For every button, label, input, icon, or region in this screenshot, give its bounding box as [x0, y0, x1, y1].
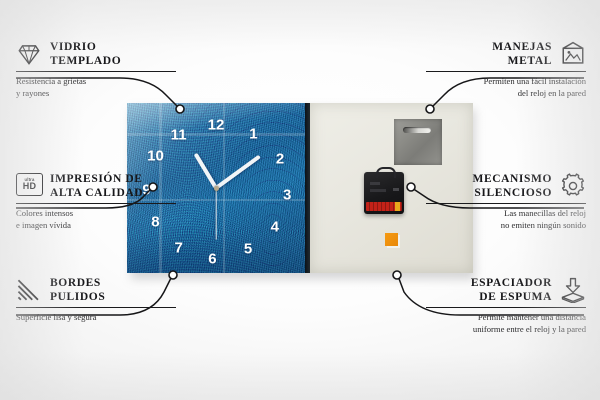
- feature-title-line1: ESPACIADOR: [471, 276, 552, 290]
- feature-title-line2: SILENCIOSO: [472, 186, 552, 200]
- feature-desc-line1: Superficie lisa y segura: [16, 312, 176, 323]
- feature-divider: [16, 307, 176, 308]
- feature-desc-line2: no emiten ningún sonido: [426, 220, 586, 231]
- diamond-icon: [16, 41, 42, 67]
- feature-desc-line1: Colores intensos: [16, 208, 176, 219]
- feature-title: IMPRESIÓN DE ALTA CALIDAD: [50, 172, 143, 200]
- feature-desc-line1: Permiten una fácil instalación: [426, 76, 586, 87]
- feature-bordes-pulidos: BORDES PULIDOS Superficie lisa y segura: [16, 276, 176, 324]
- mechanism-loop: [376, 167, 396, 178]
- feature-espaciador-espuma: ESPACIADOR DE ESPUMA Permite mantener un…: [426, 276, 586, 335]
- feature-title: ESPACIADOR DE ESPUMA: [471, 276, 552, 304]
- feature-header: MECANISMO SILENCIOSO: [426, 172, 586, 200]
- feature-manejas-metal: MANEJAS METAL Permiten una fácil instala…: [426, 40, 586, 99]
- picture-frame-icon-glyph: [560, 41, 586, 67]
- infographic-canvas: 12 1 2 3 4 5 6 7 8 9 10 11: [0, 0, 600, 400]
- feature-mecanismo-silencioso: MECANISMO SILENCIOSO Las manecillas del …: [426, 172, 586, 231]
- feature-desc-line2: y rayones: [16, 88, 176, 99]
- foam-spacer-icon: [560, 277, 586, 303]
- feature-description: Resistencia a grietas y rayones: [16, 76, 176, 99]
- feature-divider: [16, 203, 176, 204]
- feature-title-line1: VIDRIO: [50, 40, 121, 54]
- feature-title-line2: DE ESPUMA: [471, 290, 552, 304]
- ultra-hd-icon-box: ultra HD: [16, 173, 43, 196]
- feature-divider: [426, 71, 586, 72]
- feature-description: Permiten una fácil instalación del reloj…: [426, 76, 586, 99]
- feature-header: BORDES PULIDOS: [16, 276, 176, 304]
- polished-edge-icon: [16, 277, 42, 303]
- feature-description: Las manecillas del reloj no emiten ningú…: [426, 208, 586, 231]
- feature-divider: [426, 203, 586, 204]
- feature-title-line2: PULIDOS: [50, 290, 105, 304]
- feature-title: VIDRIO TEMPLADO: [50, 40, 121, 68]
- foam-spacer-icon-glyph: [560, 277, 586, 303]
- feature-title: MANEJAS METAL: [492, 40, 552, 68]
- feature-title-line1: BORDES: [50, 276, 105, 290]
- feature-desc-line2: uniforme entre el reloj y la pared: [426, 324, 586, 335]
- feature-desc-line2: del reloj en la pared: [426, 88, 586, 99]
- product-photo: 12 1 2 3 4 5 6 7 8 9 10 11: [127, 103, 473, 275]
- feature-title-line2: ALTA CALIDAD: [50, 186, 143, 200]
- feature-header: ultra HD IMPRESIÓN DE ALTA CALIDAD: [16, 172, 176, 200]
- feature-description: Colores intensos e imagen vívida: [16, 208, 176, 231]
- diamond-icon-glyph: [16, 41, 42, 67]
- feature-desc-line1: Las manecillas del reloj: [426, 208, 586, 219]
- clock-second-hand: [215, 188, 216, 240]
- hanger-slot: [403, 127, 431, 133]
- feature-desc-line1: Permite mantener una distancia: [426, 312, 586, 323]
- foam-spacer-pad: [385, 233, 398, 246]
- feature-title-line1: MANEJAS: [492, 40, 552, 54]
- gear-icon: [560, 173, 586, 199]
- feature-description: Permite mantener una distancia uniforme …: [426, 312, 586, 335]
- feature-title-line2: METAL: [492, 54, 552, 68]
- feature-title-line2: TEMPLADO: [50, 54, 121, 68]
- feature-desc-line2: e imagen vívida: [16, 220, 176, 231]
- mechanism-yellow-tag: [395, 202, 400, 211]
- metal-hanger-icon: [394, 119, 442, 165]
- clock-mechanism: [364, 172, 404, 214]
- feature-desc-line1: Resistencia a grietas: [16, 76, 176, 87]
- feature-header: VIDRIO TEMPLADO: [16, 40, 176, 68]
- mechanism-detail: [393, 188, 399, 191]
- feature-description: Superficie lisa y segura: [16, 312, 176, 323]
- feature-title-line1: MECANISMO: [472, 172, 552, 186]
- clock-center-pivot: [214, 186, 219, 191]
- clock-hour-hand: [194, 153, 218, 189]
- mechanism-detail: [370, 189, 386, 192]
- feature-title: MECANISMO SILENCIOSO: [472, 172, 552, 200]
- ultra-hd-icon-hd-text: HD: [23, 182, 37, 191]
- feature-impresion-alta-calidad: ultra HD IMPRESIÓN DE ALTA CALIDAD Color…: [16, 172, 176, 231]
- polished-edge-icon-glyph: [16, 277, 42, 303]
- feature-vidrio-templado: VIDRIO TEMPLADO Resistencia a grietas y …: [16, 40, 176, 99]
- mechanism-detail: [370, 182, 380, 185]
- gear-icon-glyph: [560, 173, 586, 199]
- feature-title: BORDES PULIDOS: [50, 276, 105, 304]
- feature-divider: [426, 307, 586, 308]
- clock-minute-hand: [215, 155, 261, 190]
- feature-header: ESPACIADOR DE ESPUMA: [426, 276, 586, 304]
- ultra-hd-icon: ultra HD: [16, 173, 42, 199]
- feature-divider: [16, 71, 176, 72]
- feature-title-line1: IMPRESIÓN DE: [50, 172, 143, 186]
- picture-frame-icon: [560, 41, 586, 67]
- feature-header: MANEJAS METAL: [426, 40, 586, 68]
